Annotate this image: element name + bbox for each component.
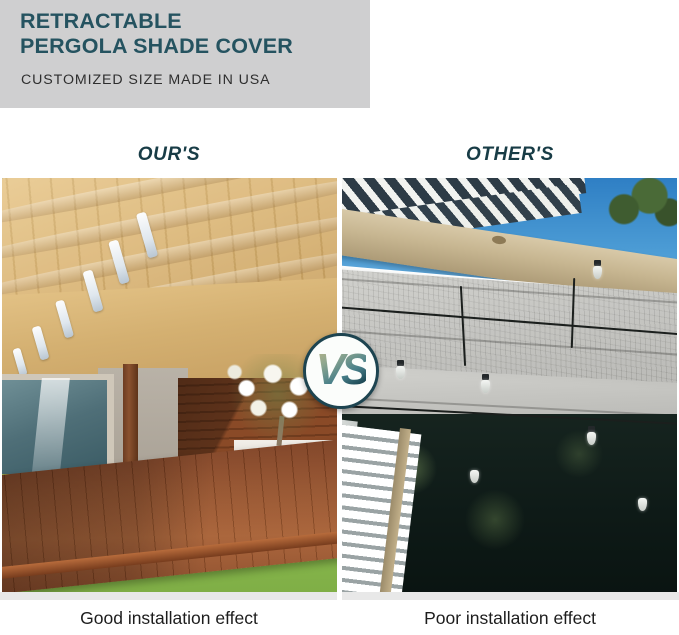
caption-poor-installation: Poor installation effect (341, 608, 679, 629)
column-label-ours: OUR'S (0, 144, 338, 166)
page-title: RETRACTABLE PERGOLA SHADE COVER (20, 9, 364, 59)
background-tree (600, 178, 677, 230)
column-label-others: OTHER'S (341, 144, 679, 166)
subheadline: CUSTOMIZED SIZE MADE IN USA (21, 72, 271, 88)
headline-line-2: PERGOLA SHADE COVER (20, 34, 364, 59)
headline-line-1: RETRACTABLE (20, 9, 364, 34)
vs-badge: VS (303, 333, 379, 409)
caption-good-installation: Good installation effect (0, 608, 338, 629)
photo-poor-installation (342, 178, 677, 592)
header-banner: RETRACTABLE PERGOLA SHADE COVER CUSTOMIZ… (0, 0, 370, 108)
photo-good-installation (2, 178, 337, 592)
vs-label: VS (316, 348, 367, 395)
